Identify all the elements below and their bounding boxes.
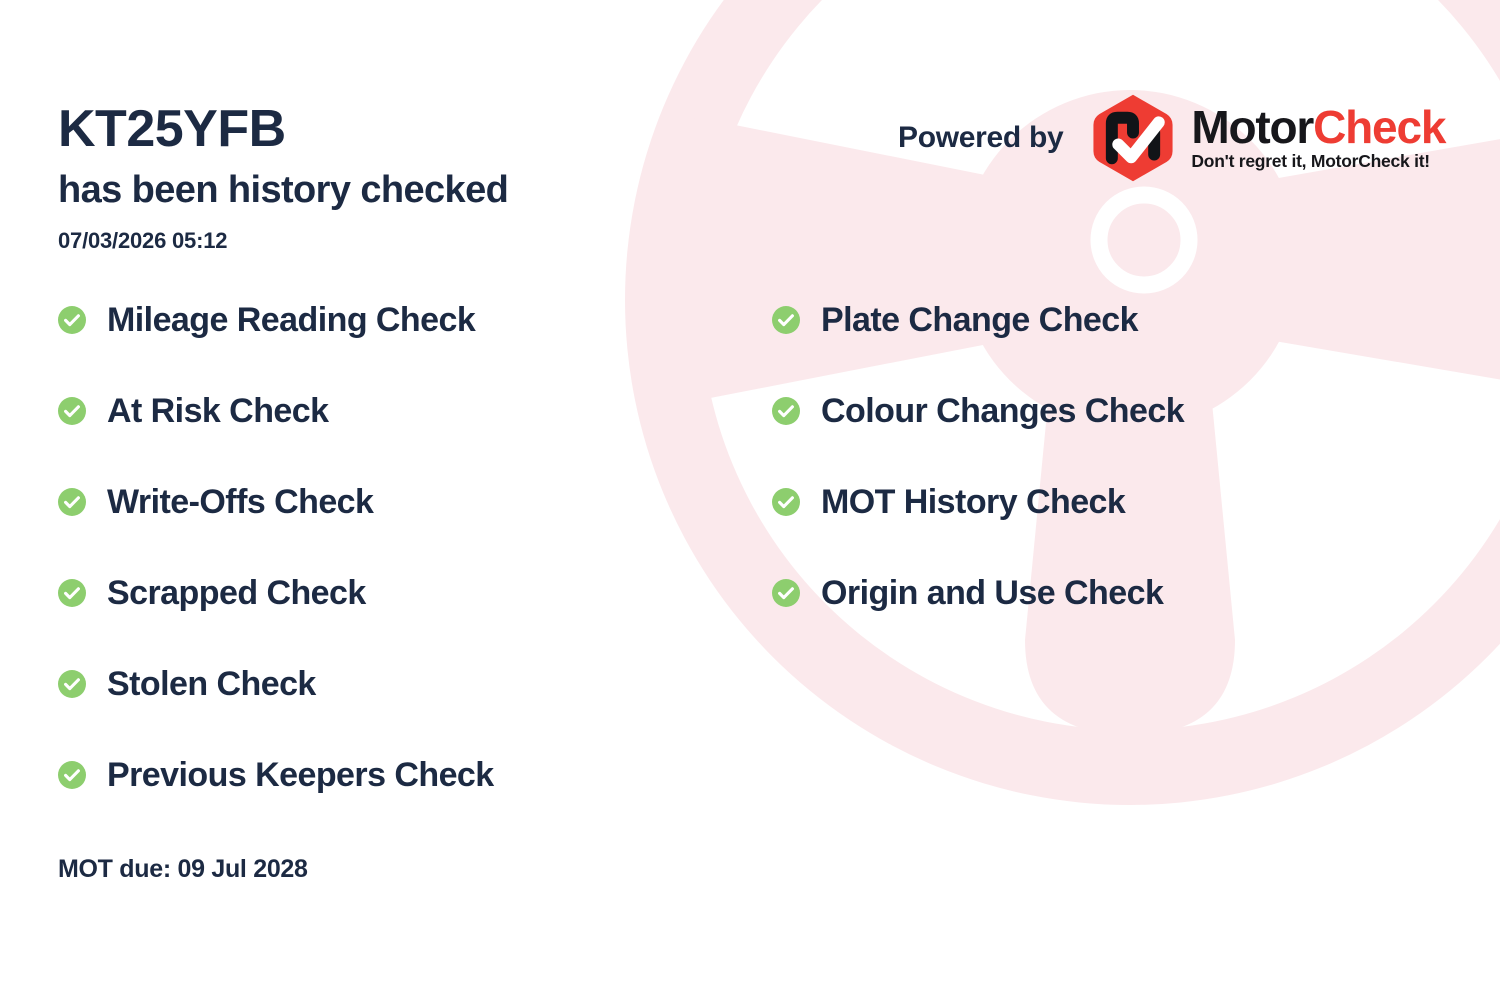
- check-circle-icon: [58, 670, 86, 698]
- wordmark-check: Check: [1313, 101, 1445, 153]
- history-check-banner: KT25YFB has been history checked 07/03/2…: [0, 0, 1500, 1000]
- check-label: Origin and Use Check: [821, 576, 1163, 610]
- check-circle-icon: [58, 488, 86, 516]
- motorcheck-wordmark: MotorCheck: [1191, 104, 1445, 150]
- motorcheck-hexagon-icon: [1087, 92, 1179, 184]
- registration-plate: KT25YFB: [58, 103, 286, 155]
- wordmark-motor: Motor: [1191, 101, 1313, 153]
- check-label: Mileage Reading Check: [107, 303, 475, 337]
- check-circle-icon: [772, 488, 800, 516]
- check-label: Colour Changes Check: [821, 394, 1184, 428]
- check-list-item: MOT History Check: [772, 479, 1184, 525]
- check-list-item: Colour Changes Check: [772, 388, 1184, 434]
- page-title: has been history checked: [58, 170, 508, 212]
- check-circle-icon: [772, 579, 800, 607]
- check-list-item: Plate Change Check: [772, 297, 1184, 343]
- check-circle-icon: [58, 579, 86, 607]
- check-label: Scrapped Check: [107, 576, 366, 610]
- check-label: Stolen Check: [107, 667, 316, 701]
- check-list-item: Scrapped Check: [58, 570, 494, 616]
- check-circle-icon: [772, 397, 800, 425]
- powered-by-label: Powered by: [898, 121, 1063, 155]
- mot-due-text: MOT due: 09 Jul 2028: [58, 855, 308, 884]
- check-list-item: At Risk Check: [58, 388, 494, 434]
- checks-left-column: Mileage Reading Check At Risk Check Writ…: [58, 297, 494, 798]
- check-label: Previous Keepers Check: [107, 758, 494, 792]
- check-list-item: Mileage Reading Check: [58, 297, 494, 343]
- check-label: MOT History Check: [821, 485, 1125, 519]
- check-circle-icon: [772, 306, 800, 334]
- motorcheck-logo[interactable]: MotorCheck Don't regret it, MotorCheck i…: [1087, 92, 1445, 184]
- check-circle-icon: [58, 306, 86, 334]
- checked-timestamp: 07/03/2026 05:12: [58, 228, 227, 254]
- check-circle-icon: [58, 397, 86, 425]
- check-list-item: Stolen Check: [58, 661, 494, 707]
- check-list-item: Origin and Use Check: [772, 570, 1184, 616]
- check-list-item: Previous Keepers Check: [58, 752, 494, 798]
- check-circle-icon: [58, 761, 86, 789]
- check-label: At Risk Check: [107, 394, 329, 428]
- powered-by-row: Powered by MotorCheck Don't regret it, M…: [898, 92, 1445, 184]
- checks-right-column: Plate Change Check Colour Changes Check …: [772, 297, 1184, 616]
- check-label: Plate Change Check: [821, 303, 1138, 337]
- brand-tagline: Don't regret it, MotorCheck it!: [1191, 151, 1445, 172]
- check-label: Write-Offs Check: [107, 485, 373, 519]
- check-list-item: Write-Offs Check: [58, 479, 494, 525]
